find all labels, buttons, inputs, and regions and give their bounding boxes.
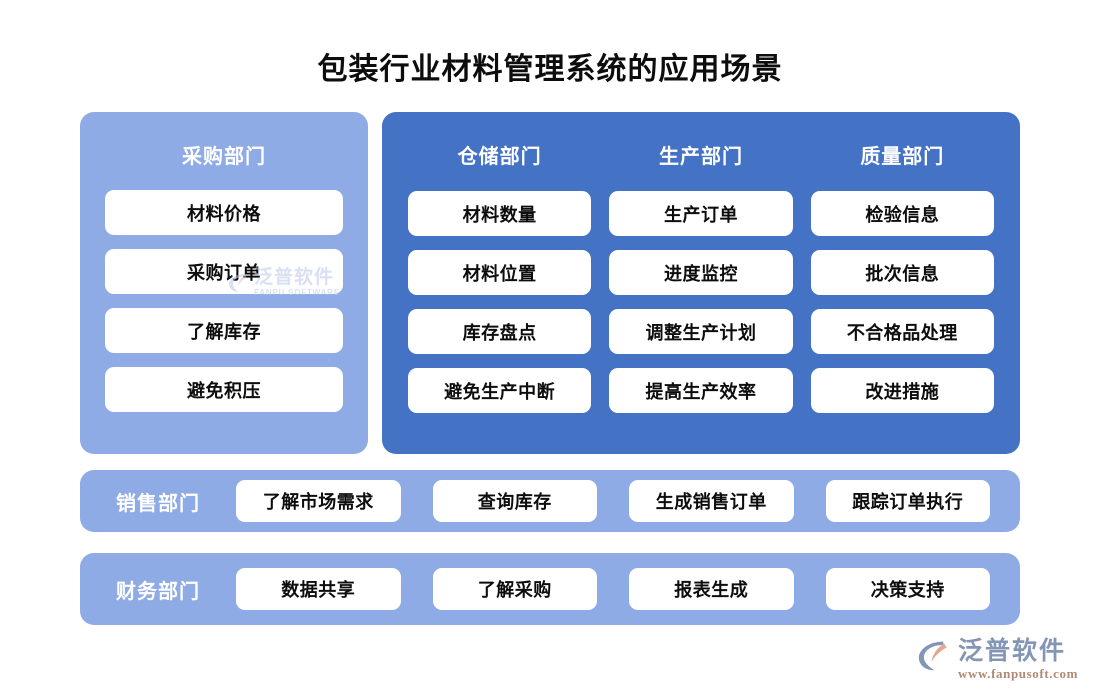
finance-card[interactable]: 了解采购 [433, 568, 598, 610]
production-card-list: 生产订单 进度监控 调整生产计划 提高生产效率 [609, 191, 792, 413]
finance-card[interactable]: 决策支持 [826, 568, 991, 610]
column-warehouse: 仓储部门 材料数量 材料位置 库存盘点 避免生产中断 [408, 140, 591, 413]
panel-finance-label: 财务部门 [80, 575, 236, 604]
quality-card[interactable]: 改进措施 [811, 368, 994, 413]
panel-sales-label: 销售部门 [80, 487, 236, 516]
sales-card[interactable]: 查询库存 [433, 480, 598, 522]
warehouse-card[interactable]: 材料位置 [408, 250, 591, 295]
panel-purchasing: 采购部门 材料价格 采购订单 了解库存 避免积压 [80, 112, 368, 454]
sales-card-list: 了解市场需求 查询库存 生成销售订单 跟踪订单执行 [236, 480, 1020, 522]
finance-card-list: 数据共享 了解采购 报表生成 决策支持 [236, 568, 1020, 610]
quality-card[interactable]: 批次信息 [811, 250, 994, 295]
warehouse-card[interactable]: 材料数量 [408, 191, 591, 236]
purchasing-card[interactable]: 采购订单 [105, 249, 343, 294]
brand-url: www.fanpusoft.com [958, 666, 1078, 682]
production-card[interactable]: 进度监控 [609, 250, 792, 295]
panel-core-departments: 仓储部门 材料数量 材料位置 库存盘点 避免生产中断 生产部门 生产订单 进度监… [382, 112, 1020, 454]
purchasing-card[interactable]: 材料价格 [105, 190, 343, 235]
sales-card[interactable]: 了解市场需求 [236, 480, 401, 522]
sales-card[interactable]: 生成销售订单 [629, 480, 794, 522]
infographic-page: 包装行业材料管理系统的应用场景 采购部门 材料价格 采购订单 了解库存 避免积压… [0, 0, 1100, 700]
warehouse-card[interactable]: 库存盘点 [408, 309, 591, 354]
panel-finance: 财务部门 数据共享 了解采购 报表生成 决策支持 [80, 553, 1020, 625]
column-quality-heading: 质量部门 [811, 140, 994, 169]
column-quality: 质量部门 检验信息 批次信息 不合格品处理 改进措施 [811, 140, 994, 413]
sales-card[interactable]: 跟踪订单执行 [826, 480, 991, 522]
fanpu-logo-icon [917, 640, 951, 672]
quality-card[interactable]: 检验信息 [811, 191, 994, 236]
column-warehouse-heading: 仓储部门 [408, 140, 591, 169]
brand-name: 泛普软件 [958, 638, 1078, 665]
column-production-heading: 生产部门 [609, 140, 792, 169]
purchasing-card[interactable]: 了解库存 [105, 308, 343, 353]
finance-card[interactable]: 数据共享 [236, 568, 401, 610]
warehouse-card-list: 材料数量 材料位置 库存盘点 避免生产中断 [408, 191, 591, 413]
panel-sales: 销售部门 了解市场需求 查询库存 生成销售订单 跟踪订单执行 [80, 470, 1020, 532]
column-production: 生产部门 生产订单 进度监控 调整生产计划 提高生产效率 [609, 140, 792, 413]
quality-card-list: 检验信息 批次信息 不合格品处理 改进措施 [811, 191, 994, 413]
brand-logo: 泛普软件 www.fanpusoft.com [917, 638, 1078, 682]
core-columns: 仓储部门 材料数量 材料位置 库存盘点 避免生产中断 生产部门 生产订单 进度监… [408, 140, 994, 413]
purchasing-card-list: 材料价格 采购订单 了解库存 避免积压 [105, 190, 343, 412]
production-card[interactable]: 调整生产计划 [609, 309, 792, 354]
warehouse-card[interactable]: 避免生产中断 [408, 368, 591, 413]
purchasing-card[interactable]: 避免积压 [105, 367, 343, 412]
brand-logo-texts: 泛普软件 www.fanpusoft.com [958, 638, 1078, 682]
production-card[interactable]: 提高生产效率 [609, 368, 792, 413]
page-title: 包装行业材料管理系统的应用场景 [0, 50, 1100, 90]
finance-card[interactable]: 报表生成 [629, 568, 794, 610]
panel-purchasing-heading: 采购部门 [80, 140, 368, 169]
quality-card[interactable]: 不合格品处理 [811, 309, 994, 354]
production-card[interactable]: 生产订单 [609, 191, 792, 236]
